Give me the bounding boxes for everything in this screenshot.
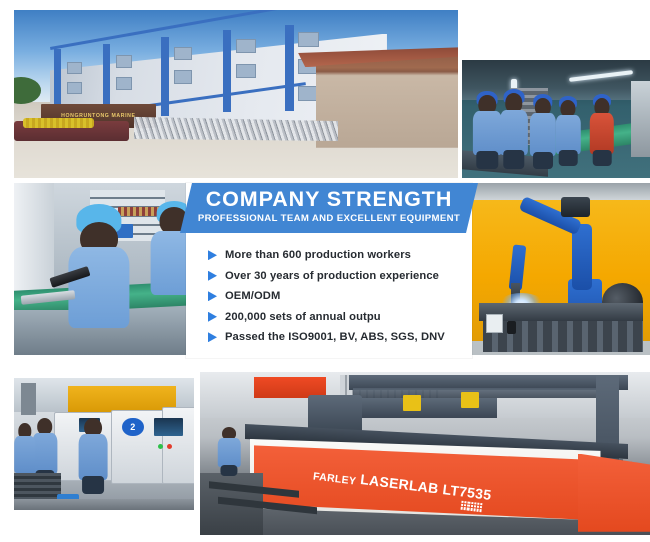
photo-assembly-line bbox=[462, 60, 650, 178]
list-item-label: OEM/ODM bbox=[225, 290, 280, 302]
work-table bbox=[479, 303, 643, 320]
equipment-cabinet bbox=[631, 81, 650, 157]
gantry-beam bbox=[349, 375, 628, 390]
worker-legs bbox=[503, 150, 524, 168]
yellow-marker bbox=[461, 392, 479, 408]
worker-legs bbox=[477, 151, 498, 169]
list-item: Over 30 years of production experience bbox=[208, 266, 462, 287]
ceiling-beam bbox=[464, 183, 650, 200]
window bbox=[174, 70, 192, 83]
arrow-right-icon bbox=[208, 312, 217, 322]
worker bbox=[473, 95, 501, 168]
worker-body bbox=[14, 436, 36, 472]
pillar bbox=[21, 383, 35, 415]
worker bbox=[79, 418, 108, 495]
worker bbox=[500, 93, 528, 169]
flowerbed bbox=[23, 118, 94, 128]
list-item-label: 200,000 sets of annual outpu bbox=[225, 311, 381, 323]
yellow-marker bbox=[403, 395, 421, 411]
list-item: OEM/ODM bbox=[208, 286, 462, 307]
worker bbox=[218, 427, 241, 476]
control-button[interactable] bbox=[507, 321, 516, 335]
worker-legs bbox=[533, 152, 553, 169]
window bbox=[67, 82, 82, 94]
card-banner: COMPANY STRENGTH PROFESSIONAL TEAM AND E… bbox=[180, 183, 478, 233]
worker-body bbox=[218, 438, 241, 467]
company-strength-card: COMPANY STRENGTH PROFESSIONAL TEAM AND E… bbox=[186, 183, 472, 358]
worker-body bbox=[32, 433, 57, 474]
machine-orange-end bbox=[578, 454, 650, 532]
arrow-right-icon bbox=[208, 332, 217, 342]
control-label bbox=[486, 314, 503, 333]
arrow-right-icon bbox=[208, 291, 217, 301]
yellow-guard-panel bbox=[68, 386, 176, 412]
photo-welding-robot bbox=[464, 183, 650, 355]
window bbox=[116, 55, 132, 68]
list-item-label: Over 30 years of production experience bbox=[225, 270, 439, 282]
worker-body bbox=[556, 115, 580, 155]
worker-legs bbox=[559, 150, 578, 166]
worker bbox=[530, 98, 556, 169]
robot-cable-head bbox=[561, 197, 591, 218]
arrow-right-icon bbox=[208, 271, 217, 281]
photo-factory-exterior: HONGRUNTONG MARINE bbox=[14, 10, 458, 178]
list-item: Passed the ISO9001, BV, ABS, SGS, DNV bbox=[208, 327, 462, 348]
window bbox=[174, 47, 192, 60]
photo-cnc-shop: 2 bbox=[14, 378, 194, 510]
company-strength-collage: HONGRUNTONG MARINE bbox=[0, 0, 650, 542]
page-subtitle: PROFESSIONAL TEAM AND EXCELLENT EQUIPMEN… bbox=[180, 213, 478, 224]
window bbox=[116, 77, 132, 90]
worker bbox=[556, 100, 580, 166]
machine-column bbox=[14, 183, 54, 303]
list-item-label: More than 600 production workers bbox=[225, 249, 411, 261]
steel-stock-pile bbox=[14, 473, 61, 502]
list-item: More than 600 production workers bbox=[208, 245, 462, 266]
strength-bullet-list: More than 600 production workers Over 30… bbox=[208, 245, 462, 348]
worker-body bbox=[79, 434, 108, 480]
list-item-label: Passed the ISO9001, BV, ABS, SGS, DNV bbox=[225, 331, 445, 343]
photo-laser-cutter: FARLEY · LASERLAB LT7535 bbox=[200, 372, 650, 535]
cnc-screen[interactable] bbox=[154, 418, 183, 436]
worker-body bbox=[590, 113, 614, 154]
list-item: 200,000 sets of annual outpu bbox=[208, 307, 462, 328]
worker-legs bbox=[221, 465, 238, 477]
window bbox=[236, 39, 256, 53]
robot-lower-arm bbox=[572, 224, 592, 289]
worker bbox=[590, 98, 614, 166]
worker-body bbox=[68, 247, 129, 328]
window bbox=[298, 32, 319, 47]
worker-body bbox=[530, 113, 556, 155]
building-stripe bbox=[285, 25, 294, 111]
machine-number-badge: 2 bbox=[122, 418, 144, 436]
gantry-truss bbox=[353, 388, 614, 398]
window bbox=[67, 62, 82, 74]
building-stripe bbox=[223, 30, 231, 112]
worker-legs bbox=[82, 476, 104, 494]
worker-legs bbox=[593, 150, 612, 166]
worker-body bbox=[500, 110, 528, 155]
page-title: COMPANY STRENGTH bbox=[180, 187, 478, 212]
worker-body bbox=[473, 111, 501, 155]
photo-bench-assembly bbox=[14, 183, 194, 355]
arrow-right-icon bbox=[208, 250, 217, 260]
window bbox=[236, 64, 256, 78]
floor bbox=[14, 499, 194, 510]
